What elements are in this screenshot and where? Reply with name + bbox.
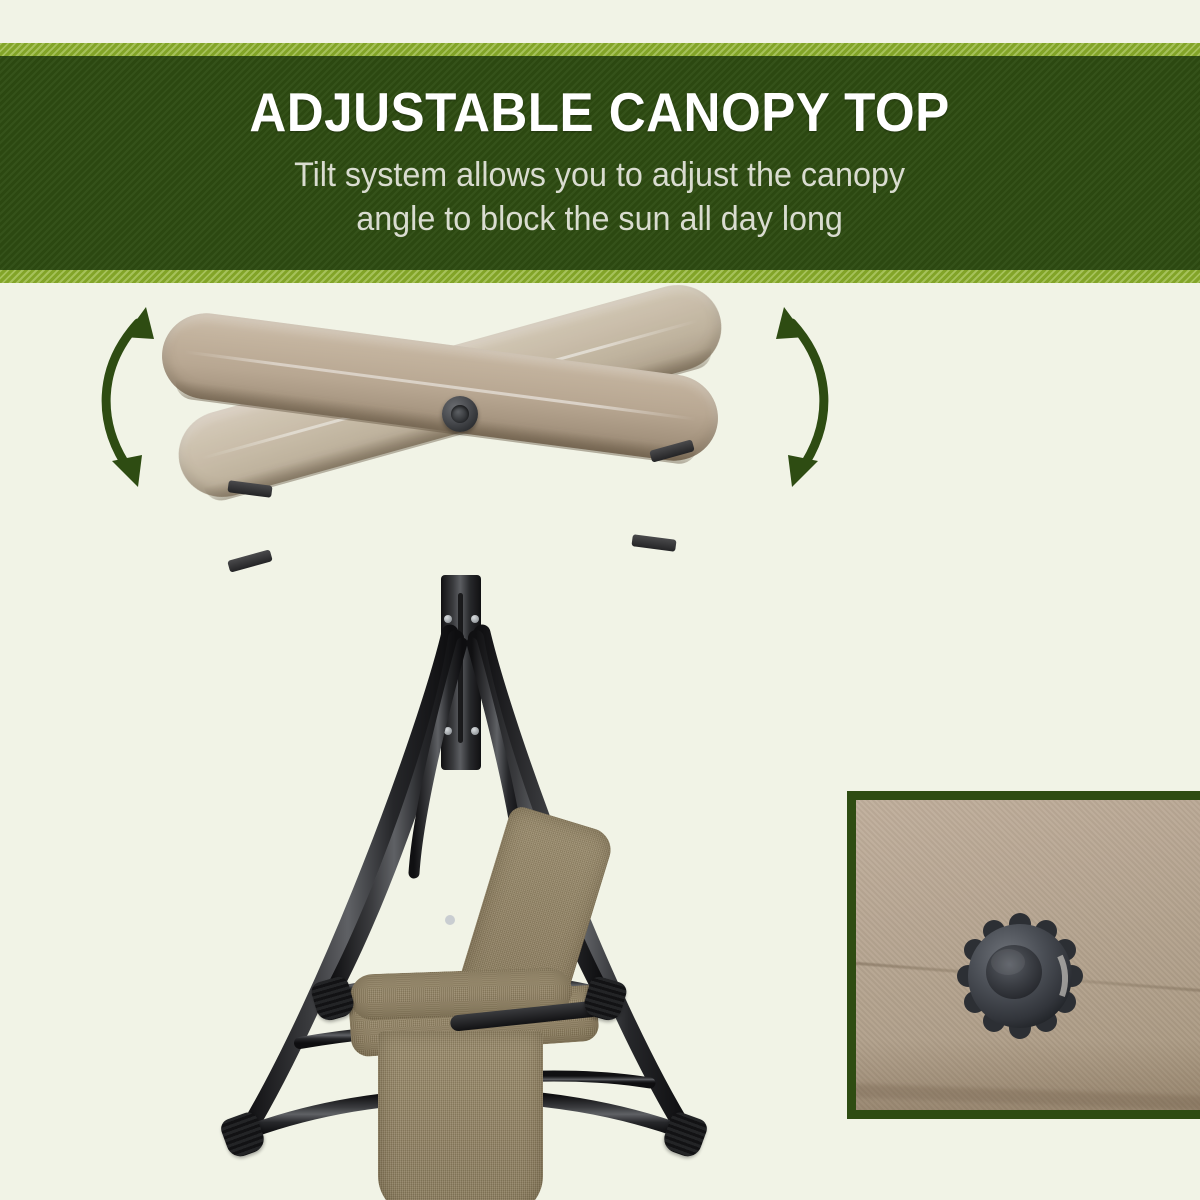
banner-stripe-bottom	[0, 270, 1200, 283]
detail-inset-photo	[847, 791, 1200, 1119]
fabric-shadow	[856, 1040, 1200, 1110]
knob-icon	[442, 396, 478, 432]
feature-banner: ADJUSTABLE CANOPY TOP Tilt system allows…	[0, 43, 1200, 283]
product-photo	[0, 283, 1200, 1200]
ribbed-knob-icon	[956, 912, 1084, 1040]
swing-frame	[150, 433, 810, 1193]
page-title: ADJUSTABLE CANOPY TOP	[250, 85, 950, 140]
product-feature-page: ADJUSTABLE CANOPY TOP Tilt system allows…	[0, 0, 1200, 1200]
banner-stripe-top	[0, 43, 1200, 56]
seat-skirt	[378, 1031, 543, 1200]
page-subtitle: Tilt system allows you to adjust the can…	[295, 154, 906, 241]
